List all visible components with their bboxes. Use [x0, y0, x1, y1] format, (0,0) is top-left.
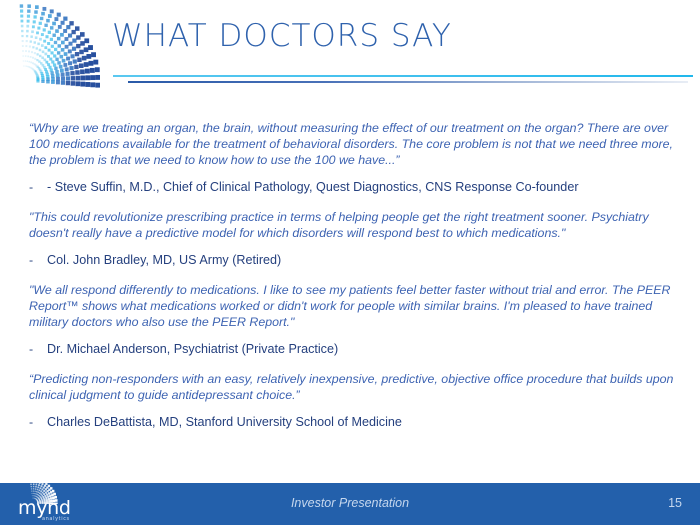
page-number: 15: [668, 496, 682, 510]
quote-attribution: - Col. John Bradley, MD, US Army (Retire…: [29, 252, 674, 268]
bullet-dash-icon: -: [29, 179, 47, 195]
footer-center-label: Investor Presentation: [0, 496, 700, 510]
title-divider-blue: [128, 81, 688, 83]
title-divider-cyan: [113, 75, 693, 77]
attribution-text: Dr. Michael Anderson, Psychiatrist (Priv…: [47, 341, 338, 357]
bullet-dash-icon: -: [29, 414, 47, 430]
bullet-dash-icon: -: [29, 341, 47, 357]
attribution-text: - Steve Suffin, M.D., Chief of Clinical …: [47, 179, 579, 195]
quote-attribution: - - Steve Suffin, M.D., Chief of Clinica…: [29, 179, 674, 195]
quote-block: "We all respond differently to medicatio…: [29, 282, 674, 357]
quote-block: “Predicting non-responders with an easy,…: [29, 371, 674, 430]
spacer: [29, 268, 674, 282]
quote-text: "This could revolutionize prescribing pr…: [29, 209, 674, 241]
quote-text: "We all respond differently to medicatio…: [29, 282, 674, 330]
quotes-list: “Why are we treating an organ, the brain…: [29, 120, 674, 430]
footer-subword: analytics: [42, 516, 70, 522]
quote-block: “Why are we treating an organ, the brain…: [29, 120, 674, 195]
spacer: [29, 195, 674, 209]
attribution-text: Charles DeBattista, MD, Stanford Univers…: [47, 414, 402, 430]
spacer: [29, 357, 674, 371]
attribution-text: Col. John Bradley, MD, US Army (Retired): [47, 252, 281, 268]
quote-attribution: - Charles DeBattista, MD, Stanford Unive…: [29, 414, 674, 430]
slide-footer: mynd analytics Investor Presentation 15: [0, 483, 700, 525]
quote-attribution: - Dr. Michael Anderson, Psychiatrist (Pr…: [29, 341, 674, 357]
quote-text: “Why are we treating an organ, the brain…: [29, 120, 674, 168]
quote-text: “Predicting non-responders with an easy,…: [29, 371, 674, 403]
page-title: WHAT DOCTORS SAY: [112, 18, 452, 54]
mynd-analytics-fan-logo: [4, 4, 100, 88]
slide-header: WHAT DOCTORS SAY: [0, 0, 700, 92]
bullet-dash-icon: -: [29, 252, 47, 268]
quote-block: "This could revolutionize prescribing pr…: [29, 209, 674, 268]
